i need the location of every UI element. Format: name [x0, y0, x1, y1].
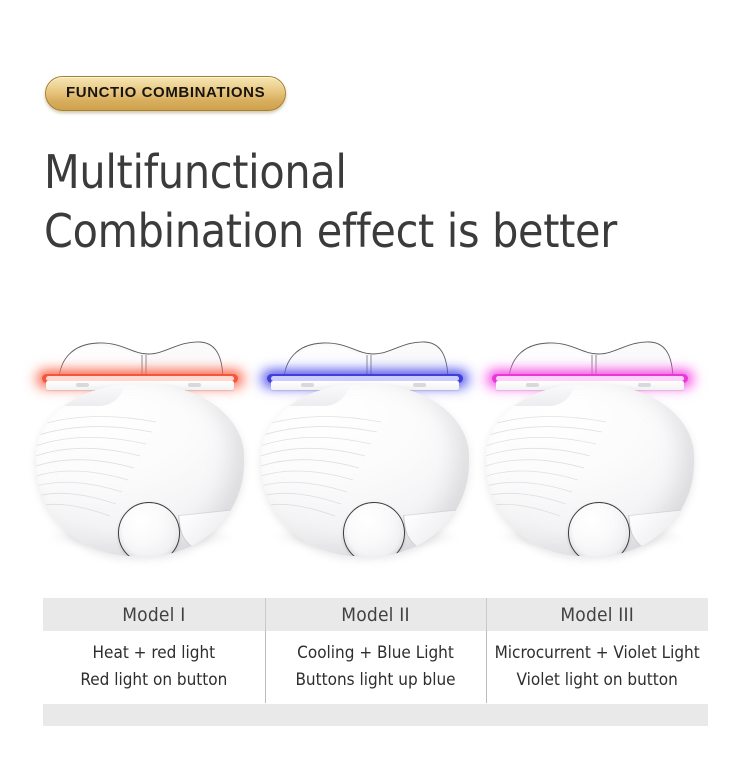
product-feature-page: FUNCTIO COMBINATIONS Multifunctional Com…	[0, 0, 750, 770]
device-power-button[interactable]	[118, 502, 180, 556]
device-gallery	[0, 330, 750, 570]
section-badge-wrapper: FUNCTIO COMBINATIONS	[45, 76, 286, 111]
table-header-label: Model I	[122, 604, 185, 626]
cell-line-1: Cooling + Blue Light	[297, 640, 454, 667]
device-image-model-2	[251, 334, 481, 564]
device-image-model-1	[26, 334, 256, 564]
device-image-model-3	[476, 334, 706, 564]
table-header-cell-model-3: Model III	[486, 598, 708, 631]
device-body	[261, 384, 469, 556]
section-badge: FUNCTIO COMBINATIONS	[45, 76, 286, 111]
cell-line-1: Microcurrent + Violet Light	[495, 640, 700, 667]
cell-line-1: Heat + red light	[93, 640, 216, 667]
table-header-cell-model-1: Model I	[43, 598, 265, 631]
table-header-label: Model III	[560, 604, 634, 626]
device-power-button[interactable]	[568, 502, 630, 556]
page-title: Multifunctional Combination effect is be…	[44, 143, 724, 261]
cell-line-2: Violet light on button	[517, 667, 678, 694]
table-footer-strip	[43, 704, 708, 726]
table-cell-model-2: Cooling + Blue Light Buttons light up bl…	[265, 631, 487, 703]
device-power-button[interactable]	[343, 502, 405, 556]
section-badge-label: FUNCTIO COMBINATIONS	[66, 84, 265, 101]
headline-line-1: Multifunctional	[44, 143, 724, 202]
spec-comparison-table: Model I Model II Model III Heat + red li…	[43, 598, 708, 726]
table-header-label: Model II	[341, 604, 409, 626]
cell-line-2: Buttons light up blue	[295, 667, 455, 694]
cell-line-2: Red light on button	[80, 667, 227, 694]
table-cell-model-3: Microcurrent + Violet Light Violet light…	[486, 631, 708, 703]
table-row: Heat + red light Red light on button Coo…	[43, 631, 708, 703]
table-header-row: Model I Model II Model III	[43, 598, 708, 631]
device-body	[36, 384, 244, 556]
table-header-cell-model-2: Model II	[265, 598, 487, 631]
device-body	[486, 384, 694, 556]
headline-line-2: Combination effect is better	[44, 202, 724, 261]
table-cell-model-1: Heat + red light Red light on button	[43, 631, 265, 703]
